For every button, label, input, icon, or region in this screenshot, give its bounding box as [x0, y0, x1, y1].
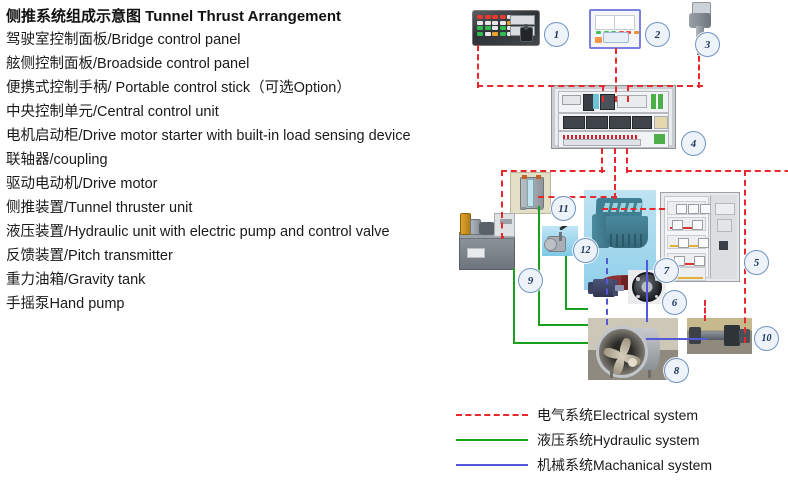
list-item-4: 中央控制单元/Central control unit — [6, 100, 458, 124]
badge-12: 12 — [573, 238, 598, 263]
ccu-terminal-rail — [563, 139, 641, 146]
ccu-fuse-block — [654, 116, 668, 129]
wire-electrical-tank-stub — [538, 196, 617, 198]
wire-hydraulic-tank-down — [538, 206, 540, 324]
legend-label-mechanical: 机械系统Machanical system — [537, 455, 712, 475]
node-hydraulic-unit[interactable] — [457, 212, 517, 270]
list-item-3: 便携式控制手柄/ Portable control stick（可选Option… — [6, 76, 458, 100]
starter-door-panel — [715, 203, 735, 215]
motor-shaft — [615, 285, 624, 291]
starter-row-1 — [667, 201, 706, 215]
wire-electrical-to-pitch — [704, 300, 706, 321]
wire-mechanical-motor-dashed — [606, 258, 608, 325]
legend-line-electrical — [456, 414, 528, 416]
list-item-10: 反馈装置/Pitch transmitter — [6, 244, 458, 268]
wire-electrical-left-branch — [501, 170, 605, 172]
ccu-power-module — [654, 134, 665, 144]
starter-door[interactable] — [710, 195, 737, 279]
list-item-1: 驾驶室控制面板/Bridge control panel — [6, 28, 458, 52]
motor-body — [593, 279, 615, 297]
thruster-mouth — [596, 326, 648, 378]
hydraulic-nameplate — [467, 248, 485, 258]
ccu-enclosure — [555, 89, 672, 145]
wire-electrical-panel1-right — [477, 85, 605, 87]
ccu-drive-a — [563, 116, 585, 129]
wire-electrical-to-hydraulic — [501, 170, 503, 239]
legend-row-mechanical: 机械系统Machanical system — [452, 452, 788, 477]
coupling-bolt-1 — [636, 277, 640, 281]
diagram-page: 侧推系统组成示意图 Tunnel Thrust Arrangement 驾驶室控… — [0, 0, 788, 490]
list-item-2: 舷侧控制面板/Broadside control panel — [6, 52, 458, 76]
legend-line-hydraulic — [456, 439, 528, 441]
pump-post — [559, 232, 562, 241]
list-item-5: 电机启动柜/Drive motor starter with built-in … — [6, 124, 458, 148]
starter-block-3a — [678, 238, 689, 248]
wire-mechanical-thruster-to-pitch — [646, 338, 707, 340]
wire-electrical-stick-left — [627, 85, 703, 87]
legend-label-electrical: 电气系统Electrical system — [537, 405, 698, 425]
pitch-bracket-left — [689, 327, 701, 344]
ccu-module-plc — [593, 94, 599, 109]
tank-cap-left — [522, 175, 527, 179]
badge-3: 3 — [695, 32, 720, 57]
page-title: 侧推系统组成示意图 Tunnel Thrust Arrangement — [6, 6, 458, 28]
component-list: 侧推系统组成示意图 Tunnel Thrust Arrangement 驾驶室控… — [6, 6, 458, 316]
badge-6: 6 — [662, 290, 687, 315]
ccu-shelf-bottom — [558, 131, 669, 148]
broadside-screen-right — [614, 15, 635, 30]
pump-head — [544, 238, 557, 251]
starter-block-1b — [688, 204, 699, 214]
list-item-12: 手摇泵Hand pump — [6, 292, 458, 316]
thruster-leg-left — [610, 370, 613, 378]
badge-8: 8 — [664, 358, 689, 383]
ccu-drive-b — [586, 116, 608, 129]
ccu-terminal-strip — [617, 95, 647, 108]
starter-block-2a — [672, 220, 683, 230]
tank-cap-right — [536, 175, 541, 179]
node-pitch-transmitter[interactable] — [687, 318, 752, 354]
thruster-leg-right — [648, 370, 651, 378]
pump-lever[interactable] — [559, 226, 571, 231]
hydraulic-electric-pump — [479, 222, 495, 235]
pitch-actuator — [724, 325, 740, 346]
starter-block-2b — [692, 220, 703, 230]
panel-joystick[interactable] — [520, 27, 533, 42]
coupling-bolt-3 — [636, 295, 640, 299]
wire-electrical-panel2-down — [615, 48, 617, 102]
wire-hydraulic-pump-right — [565, 308, 588, 310]
panel-display-upper — [510, 15, 535, 25]
ccu-shelf-top — [558, 91, 669, 113]
ccu-drive-c — [609, 116, 631, 129]
list-item-7: 驱动电动机/Drive motor — [6, 172, 458, 196]
coupling-bolt-4 — [655, 295, 659, 299]
starter-door-switch[interactable] — [719, 241, 728, 250]
legend-label-hydraulic: 液压系统Hydraulic system — [537, 430, 700, 450]
ccu-module-a — [562, 95, 581, 105]
starter-block-1a — [676, 204, 687, 214]
badge-4: 4 — [681, 131, 706, 156]
badge-5: 5 — [744, 250, 769, 275]
wire-electrical-starter-to-unit — [602, 208, 665, 210]
list-item-8: 侧推装置/Tunnel thruster unit — [6, 196, 458, 220]
badge-10: 10 — [754, 326, 779, 351]
tank-foot-left — [520, 207, 526, 210]
tank-level-gauge — [527, 179, 534, 207]
wire-electrical-ccu-out-b — [614, 148, 616, 199]
wire-electrical-bus1-down — [602, 85, 604, 102]
broadside-button[interactable] — [595, 37, 602, 43]
badge-11: 11 — [551, 196, 576, 221]
starter-door-meter — [717, 219, 732, 232]
wire-electrical-hydraulic-end — [501, 236, 504, 238]
wire-hydraulic-pump-down — [565, 256, 567, 308]
starter-row-2 — [667, 217, 706, 231]
badge-7: 7 — [654, 258, 679, 283]
ccu-drive-d — [632, 116, 652, 129]
unit-ribs — [610, 234, 642, 247]
node-broadside-control-panel[interactable] — [589, 9, 641, 49]
wire-electrical-right-branch — [626, 170, 788, 172]
node-gravity-tank[interactable] — [510, 172, 551, 214]
legend-key: 电气系统Electrical system 液压系统Hydraulic syst… — [452, 402, 788, 477]
wire-electrical-bus3-down — [627, 85, 629, 102]
list-item-6: 联轴器/coupling — [6, 148, 458, 172]
panel-button-grid — [477, 15, 513, 36]
wire-mechanical-coupling-to-thruster — [646, 300, 648, 322]
starter-block-4b — [694, 256, 705, 266]
badge-9: 9 — [518, 268, 543, 293]
badge-1: 1 — [544, 22, 569, 47]
wire-hydraulic-tank-right — [538, 324, 588, 326]
legend-line-mechanical — [456, 464, 528, 466]
system-diagram: 1 2 3 — [455, 0, 788, 400]
ccu-shelf-mid — [558, 113, 669, 131]
starter-block-3b — [698, 238, 709, 248]
ccu-module-green-a — [651, 94, 656, 109]
broadside-keypad[interactable] — [603, 32, 629, 43]
list-item-11: 重力油箱/Gravity tank — [6, 268, 458, 292]
thruster-hub — [628, 358, 637, 367]
hydraulic-leg-right — [504, 269, 509, 270]
legend-row-electrical: 电气系统Electrical system — [452, 402, 788, 427]
node-bridge-control-panel[interactable] — [472, 10, 540, 46]
ccu-module-green-b — [658, 94, 663, 109]
wire-electrical-panel1-down — [477, 45, 479, 88]
wire-hydraulic-unit-right — [513, 342, 588, 344]
hydraulic-control-box[interactable] — [494, 213, 515, 237]
starter-row-3 — [667, 235, 706, 249]
badge-2: 2 — [645, 22, 670, 47]
hydraulic-leg-left — [463, 269, 468, 270]
node-central-control-unit[interactable] — [551, 85, 676, 149]
wire-hydraulic-unit-down — [513, 268, 515, 342]
list-item-9: 液压装置/Hydraulic unit with electric pump a… — [6, 220, 458, 244]
legend-row-hydraulic: 液压系统Hydraulic system — [452, 427, 788, 452]
